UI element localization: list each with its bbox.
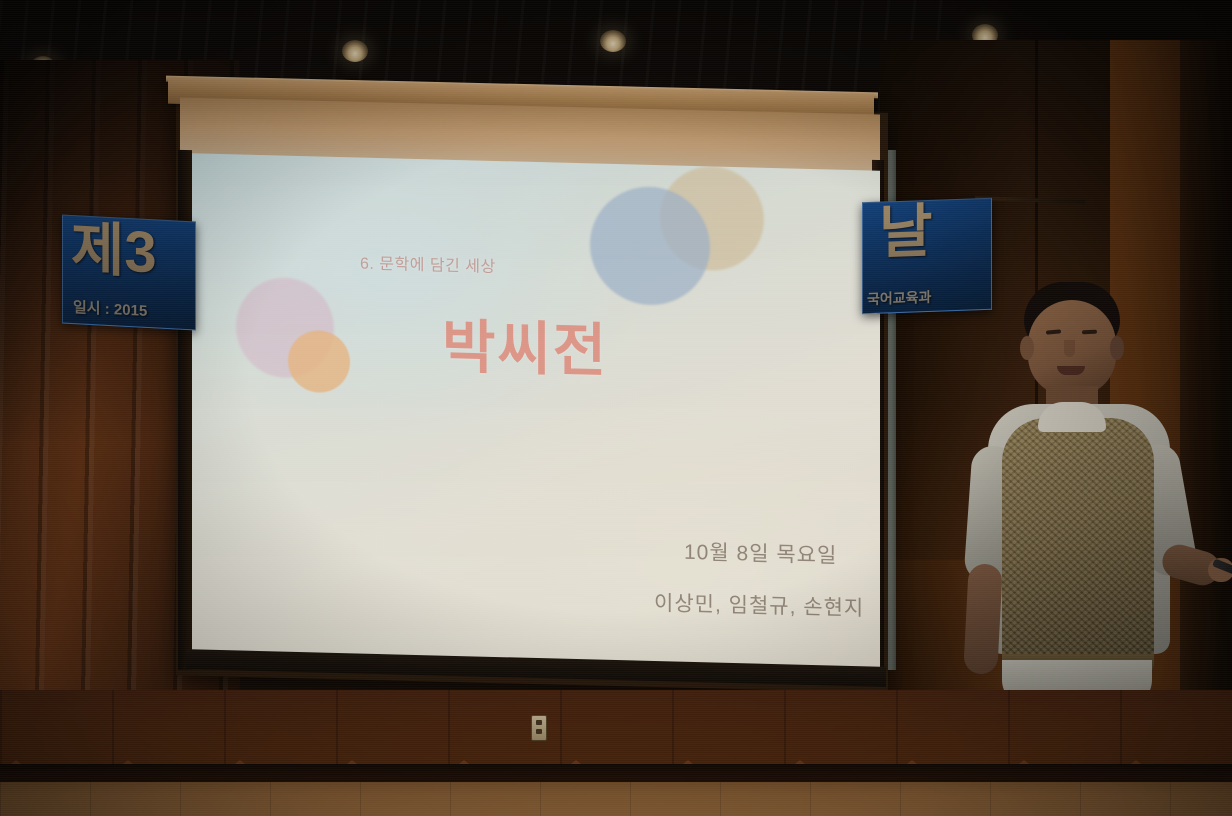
wainscot-panel-lines (0, 690, 1232, 772)
banner-right-headline: 날 (879, 203, 932, 263)
presenter-forearm-left (963, 563, 1003, 675)
spotlight-icon (342, 40, 368, 62)
presenter-ear-right (1110, 336, 1124, 360)
presenter-collar (1038, 402, 1106, 432)
slide-surface[interactable]: 6. 문학에 담긴 세상 박씨전 10월 8일 목요일 이상민, 임철규, 손현… (192, 153, 880, 672)
circle-peach-decoration (288, 330, 350, 394)
spotlight-icon (600, 30, 626, 52)
presenter-knit-vest (1002, 418, 1154, 670)
banner-left-subline: 일시 : 2015 (73, 296, 147, 321)
presenter-nose (1064, 340, 1075, 357)
slide-section-heading: 6. 문학에 담긴 세상 (360, 250, 496, 277)
slide-authors: 이상민, 임철규, 손현지 (654, 587, 864, 622)
baseboard (0, 764, 1232, 784)
wall-power-outlet (531, 715, 547, 741)
photo-scene: 6. 문학에 담긴 세상 박씨전 10월 8일 목요일 이상민, 임철규, 손현… (0, 0, 1232, 816)
presenter-eye-right (1082, 330, 1097, 335)
banner-left: 제3 일시 : 2015 (62, 214, 196, 330)
presenter-ear-left (1020, 336, 1034, 360)
slide-title: 박씨전 (442, 300, 608, 388)
banner-left-headline: 제3 (71, 220, 157, 282)
banner-right-subline: 국어교육과 (867, 287, 931, 309)
slide-date: 10월 8일 목요일 (684, 536, 837, 570)
stage-floor-planks (0, 782, 1232, 816)
